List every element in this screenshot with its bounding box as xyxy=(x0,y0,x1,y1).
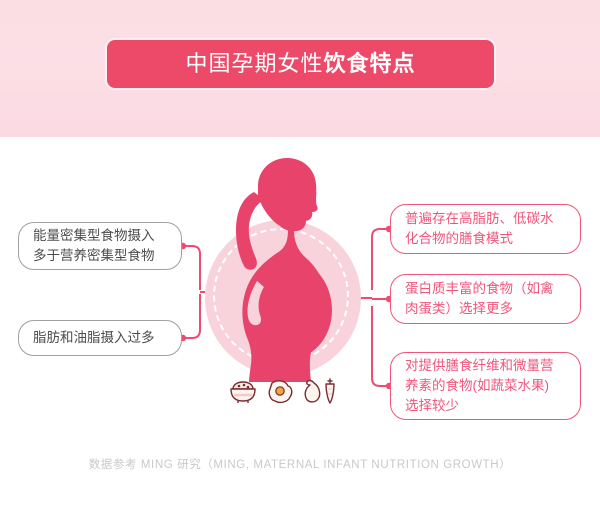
title-banner: 中国孕期女性饮食特点 xyxy=(107,40,494,88)
callout-line: 对提供膳食纤维和微量营 xyxy=(391,356,580,376)
infographic-root: 中国孕期女性饮食特点 xyxy=(0,0,600,505)
rice-bowl-icon xyxy=(231,382,255,403)
callout-line: 能量密集型食物摄入 xyxy=(19,226,181,246)
callout-line: 普遍存在高脂肪、低碳水 xyxy=(391,209,580,229)
source-footnote: 数据参考 MING 研究（MING, MATERNAL INFANT NUTRI… xyxy=(0,456,600,472)
vegetables-icon xyxy=(305,379,334,403)
callout-line: 多于营养密集型食物 xyxy=(19,246,181,266)
callout-line: 化合物的膳食模式 xyxy=(391,229,580,249)
callout-energy-dense-intake: 能量密集型食物摄入 多于营养密集型食物 xyxy=(18,222,182,270)
page-title: 中国孕期女性饮食特点 xyxy=(185,53,415,75)
page-title-bold: 饮食特点 xyxy=(324,51,416,76)
callout-excess-fat-oil: 脂肪和油脂摄入过多 xyxy=(18,320,182,356)
page-title-light: 中国孕期女性 xyxy=(185,51,323,76)
fried-egg-icon xyxy=(269,381,292,403)
food-icons-row xyxy=(228,374,338,406)
callout-protein-rich-foods: 蛋白质丰富的食物（如禽 肉蛋类）选择更多 xyxy=(390,274,581,324)
callout-fiber-micronutrient-foods: 对提供膳食纤维和微量营 养素的食物(如蔬菜水果) 选择较少 xyxy=(390,352,581,420)
callout-line: 脂肪和油脂摄入过多 xyxy=(19,328,181,348)
callout-line: 养素的食物(如蔬菜水果) xyxy=(391,376,580,396)
callout-high-fat-low-carb-pattern: 普遍存在高脂肪、低碳水 化合物的膳食模式 xyxy=(390,204,581,254)
callout-line: 选择较少 xyxy=(391,396,580,416)
callout-line: 肉蛋类）选择更多 xyxy=(391,299,580,319)
pregnant-woman-silhouette-icon xyxy=(196,150,371,390)
callout-line: 蛋白质丰富的食物（如禽 xyxy=(391,279,580,299)
